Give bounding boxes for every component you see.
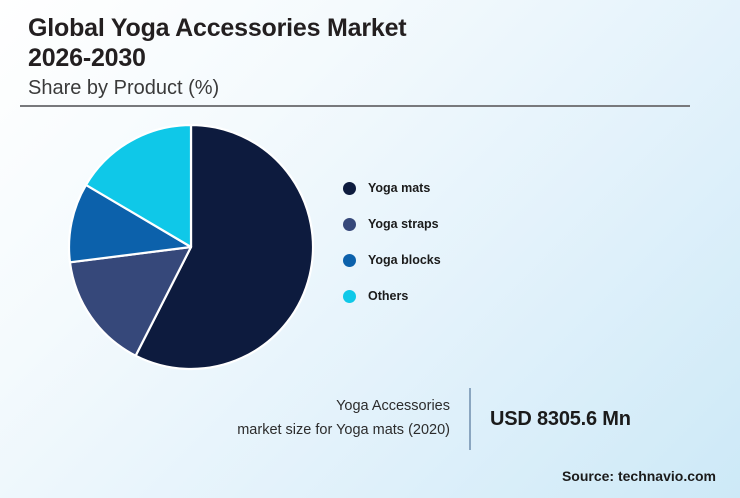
pie-chart-svg <box>66 122 316 372</box>
footnote-divider <box>469 388 471 450</box>
legend-label-yoga-straps: Yoga straps <box>368 217 439 231</box>
header-divider <box>20 105 690 107</box>
market-size-value: USD 8305.6 Mn <box>490 388 631 450</box>
source-label: Source: technavio.com <box>562 468 716 484</box>
legend-item-others[interactable]: Others <box>343 278 523 314</box>
legend-label-yoga-mats: Yoga mats <box>368 181 430 195</box>
chart-legend: Yoga mats Yoga straps Yoga blocks Others <box>343 170 523 314</box>
chart-subtitle: Share by Product (%) <box>28 76 692 100</box>
footnote-line-1: Yoga Accessories <box>336 395 450 419</box>
pie-chart <box>66 122 316 372</box>
legend-item-yoga-blocks[interactable]: Yoga blocks <box>343 242 523 278</box>
page-title: Global Yoga Accessories Market 2026-2030 <box>28 14 692 73</box>
legend-swatch-yoga-mats <box>343 182 356 195</box>
legend-swatch-yoga-blocks <box>343 254 356 267</box>
legend-item-yoga-straps[interactable]: Yoga straps <box>343 206 523 242</box>
legend-label-yoga-blocks: Yoga blocks <box>368 253 441 267</box>
legend-item-yoga-mats[interactable]: Yoga mats <box>343 170 523 206</box>
legend-swatch-yoga-straps <box>343 218 356 231</box>
pie-slice-group <box>69 125 313 369</box>
footnote-description: Yoga Accessories market size for Yoga ma… <box>150 388 450 450</box>
chart-canvas: Global Yoga Accessories Market 2026-2030… <box>0 0 740 498</box>
chart-header: Global Yoga Accessories Market 2026-2030… <box>28 14 692 100</box>
legend-label-others: Others <box>368 289 408 303</box>
legend-swatch-others <box>343 290 356 303</box>
footnote-line-2: market size for Yoga mats (2020) <box>237 419 450 443</box>
footnote: Yoga Accessories market size for Yoga ma… <box>150 388 710 450</box>
